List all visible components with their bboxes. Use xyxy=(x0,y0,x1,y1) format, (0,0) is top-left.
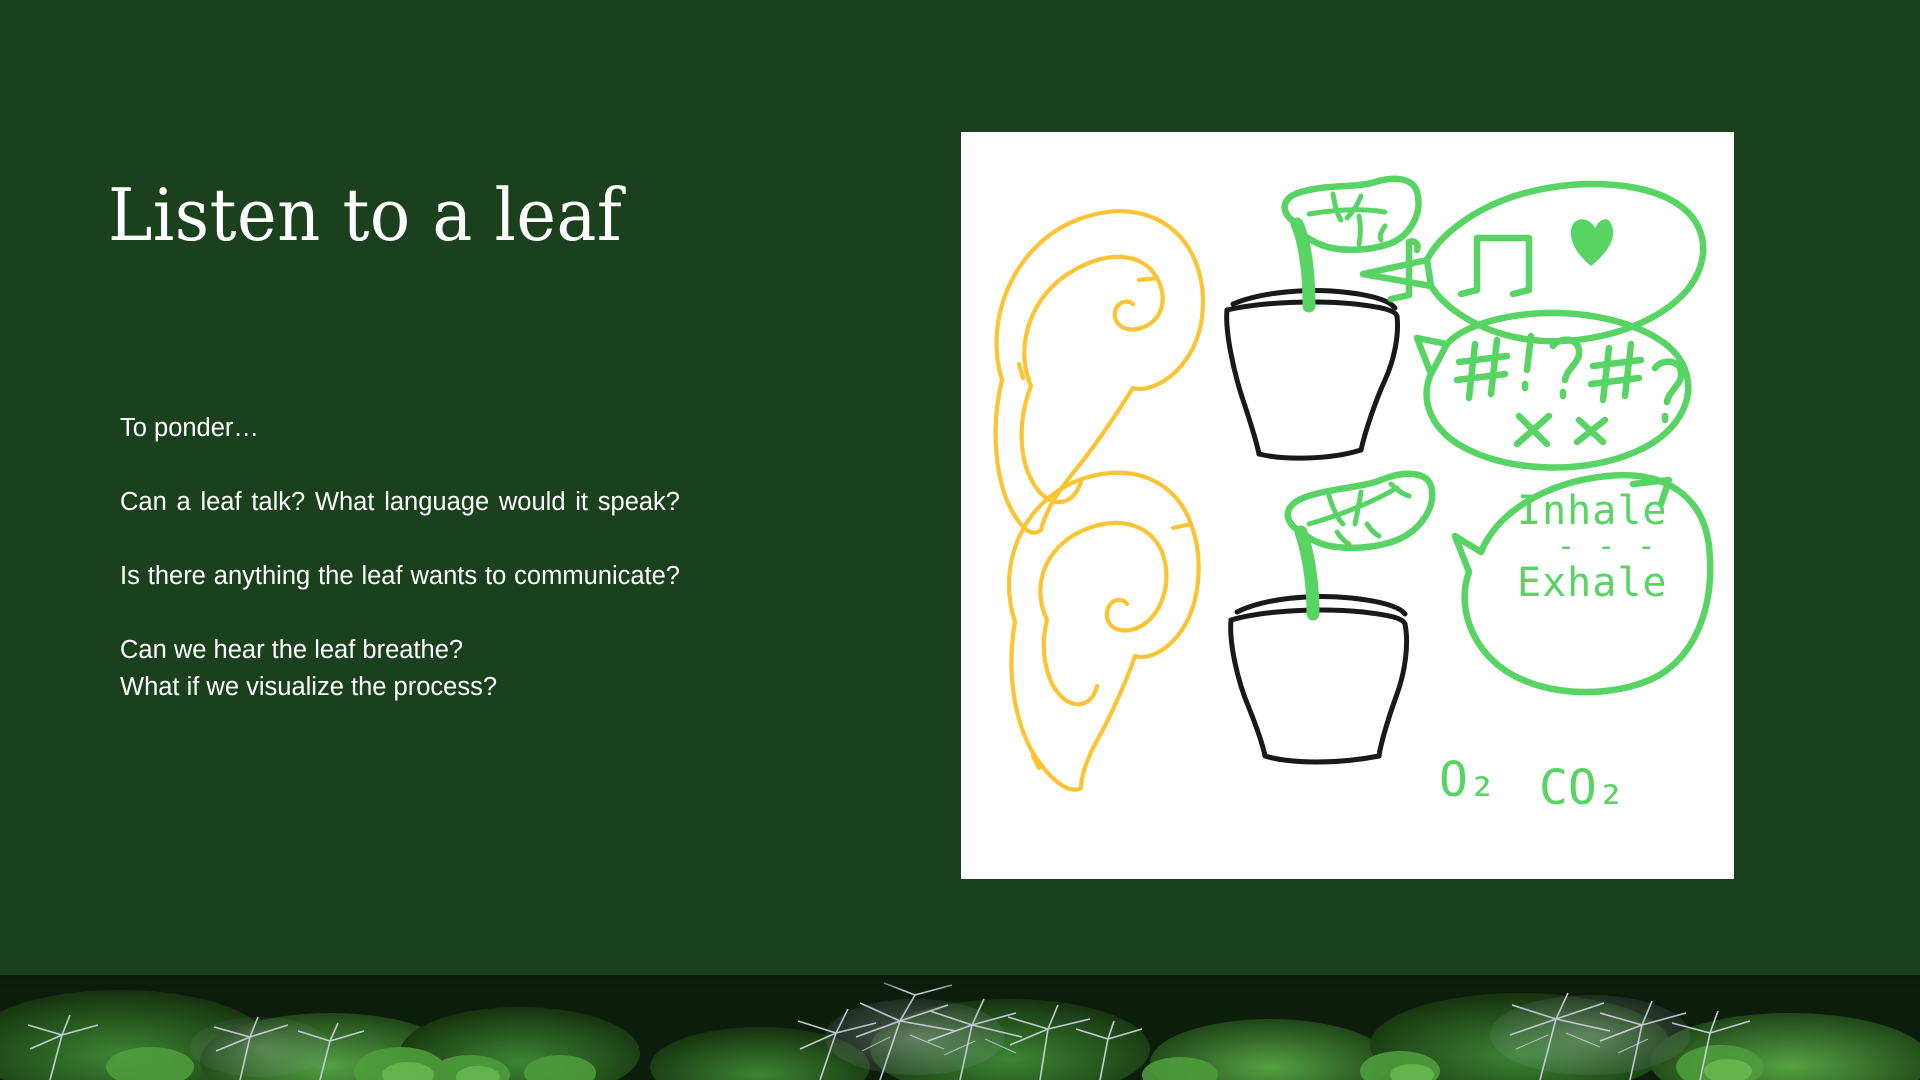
gas-labels: O₂ CO₂ xyxy=(1439,752,1626,816)
page-title: Listen to a leaf xyxy=(108,178,815,254)
lead-text: To ponder… xyxy=(120,410,680,447)
music-speech-bubble xyxy=(1363,184,1703,341)
doodle-illustration: .yk { fill:none; stroke:#fcc333; stroke-… xyxy=(961,132,1734,879)
drawing-card: .yk { fill:none; stroke:#fcc333; stroke-… xyxy=(961,132,1734,879)
breath-bubble: Inhale - - - Exhale xyxy=(1455,475,1710,692)
forest-photo xyxy=(0,975,1920,1080)
ear-icon-bottom xyxy=(1009,473,1199,790)
breath-bubble-exhale: Exhale xyxy=(1517,560,1668,606)
grawlix-speech-bubble xyxy=(1417,313,1688,468)
breath-bubble-dots: - - - xyxy=(1557,529,1657,564)
question-1: Can a leaf talk? What language would it … xyxy=(120,484,680,558)
oxygen-label: O₂ xyxy=(1439,752,1497,808)
slide: Listen to a leaf To ponder… Can a leaf t… xyxy=(0,0,1920,1080)
body-text-block: To ponder… Can a leaf talk? What languag… xyxy=(120,410,680,706)
carbon-dioxide-label: CO₂ xyxy=(1539,760,1626,816)
breath-bubble-inhale: Inhale xyxy=(1517,488,1668,534)
ear-icon-top xyxy=(996,211,1203,532)
forest-photo-band xyxy=(0,975,1920,1080)
question-3: Can we hear the leaf breathe? xyxy=(120,632,680,669)
question-4: What if we visualize the process? xyxy=(120,669,680,706)
potted-plant-top xyxy=(1227,179,1419,458)
question-2: Is there anything the leaf wants to comm… xyxy=(120,558,680,632)
potted-plant-bottom xyxy=(1231,474,1433,762)
